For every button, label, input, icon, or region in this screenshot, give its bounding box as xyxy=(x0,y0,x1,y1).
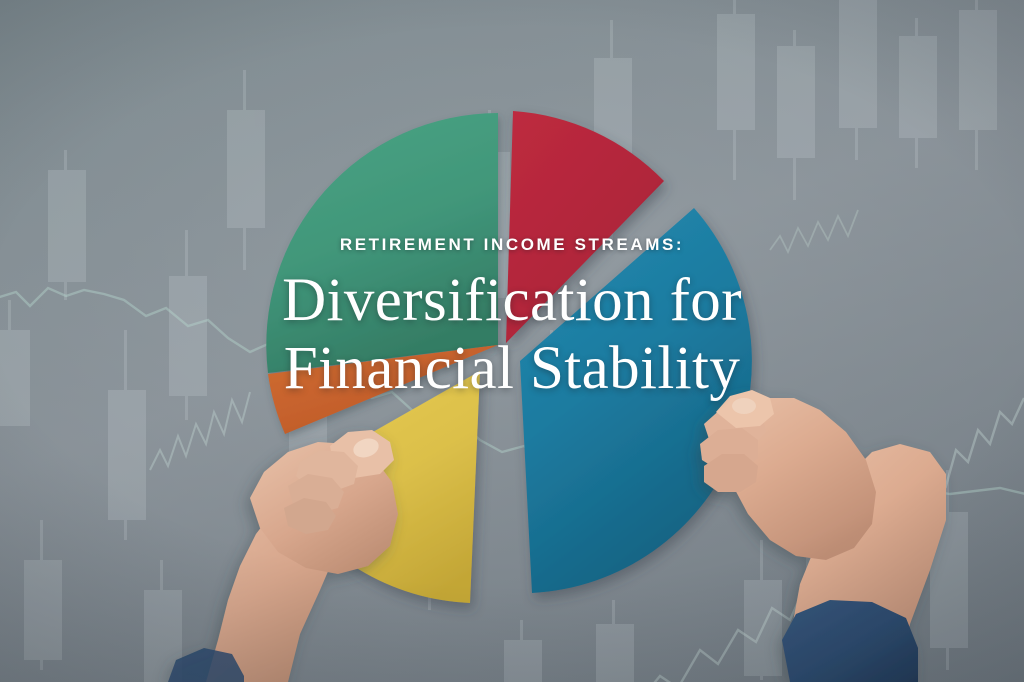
hero-banner: RETIREMENT INCOME STREAMS: Diversificati… xyxy=(0,0,1024,682)
vignette-overlay xyxy=(0,0,1024,682)
